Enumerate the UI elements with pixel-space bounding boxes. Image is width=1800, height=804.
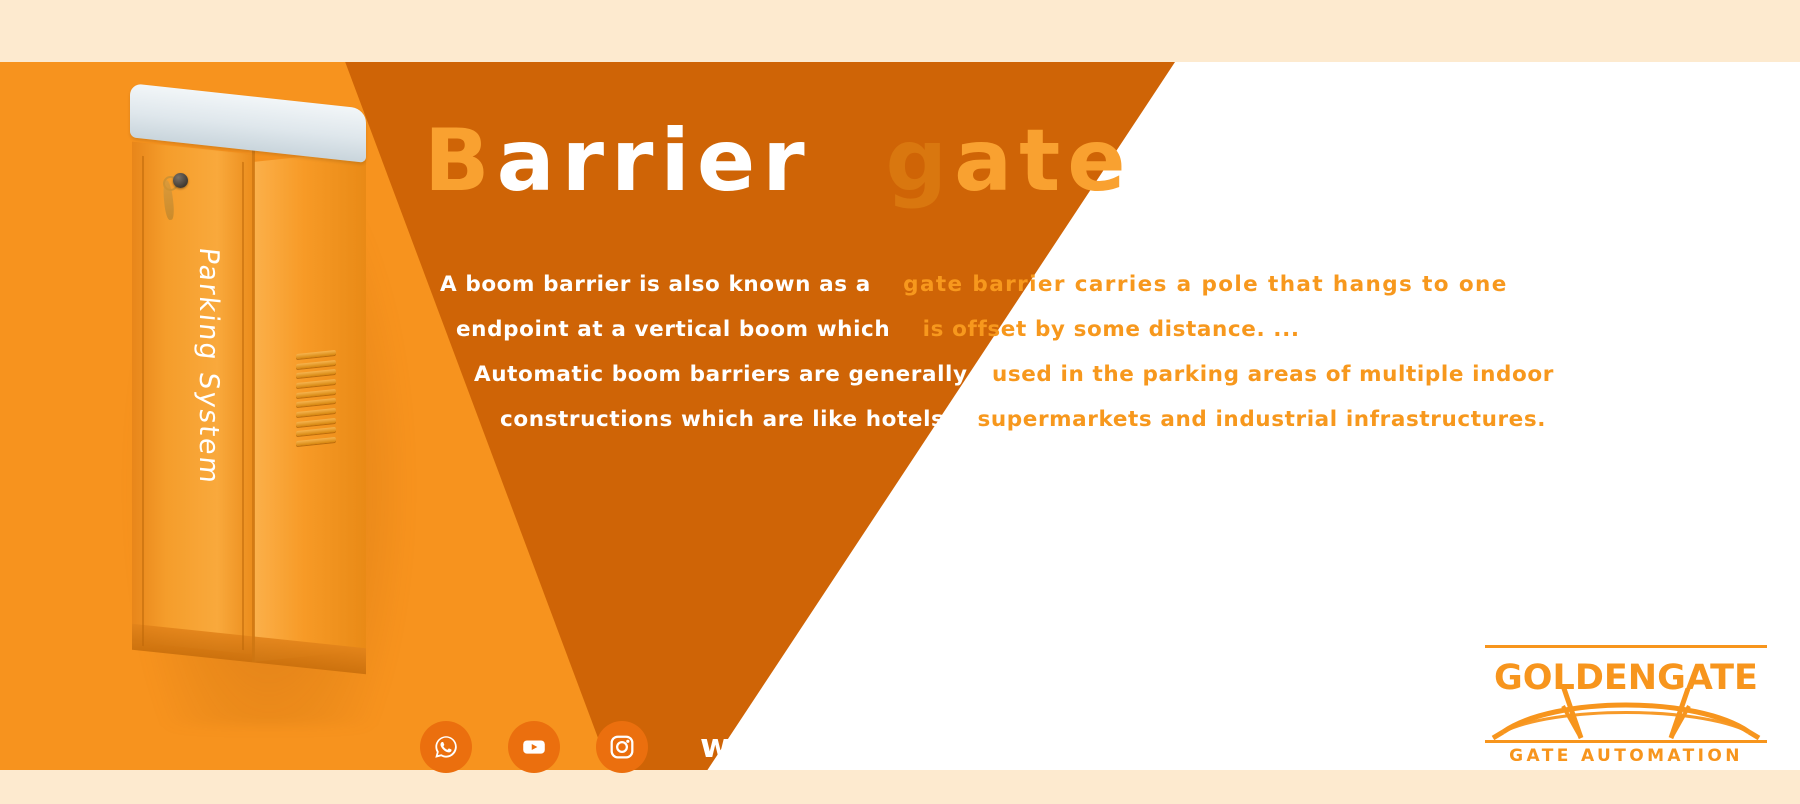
whatsapp-button[interactable] [420,721,472,773]
cabinet-seam-left [142,156,144,646]
background-cream-top-band [0,0,1800,62]
description-line-3: Automatic boom barriers are generally us… [440,352,1680,397]
lock-icon [173,173,188,188]
instagram-icon [607,732,637,762]
logo-tagline: GATE AUTOMATION [1485,746,1767,766]
headline-part-3: g [886,111,955,211]
description-block: A boom barrier is also known as a gate b… [440,262,1680,442]
description-line-1: A boom barrier is also known as a gate b… [440,262,1680,307]
logo-rule-top [1485,645,1767,648]
headline-part-2: arrier [497,111,812,211]
description-line-3-white: Automatic boom barriers are generally [474,362,968,387]
description-line-1-orange: gate barrier carries a pole that hangs t… [903,272,1508,297]
cabinet-corner-edge [252,150,255,662]
description-line-4-white: constructions which are like hotels, [500,407,953,432]
cabinet-seam-right [242,162,244,650]
logo-rule-bottom [1485,740,1767,743]
headline-part-4: ate [954,111,1132,211]
description-line-2-white: endpoint at a vertical boom which [456,317,890,342]
description-line-4: constructions which are like hotels, sup… [440,397,1680,442]
youtube-button[interactable] [508,721,560,773]
social-links [420,721,648,773]
cabinet-label: Parking System [164,243,224,487]
website-url[interactable]: www.mrsmartco.com [700,726,1153,765]
youtube-icon [519,732,549,762]
whatsapp-icon [431,732,461,762]
headline-part-1: B [424,111,497,211]
description-line-2-orange: is offset by some distance. ... [923,317,1300,342]
background-cream-bottom-band [0,770,1800,804]
description-line-2: endpoint at a vertical boom which is off… [440,307,1680,352]
description-line-1-white: A boom barrier is also known as a [440,272,871,297]
product-image-parking-system-cabinet: Parking System [118,96,418,716]
description-line-4-orange: supermarkets and industrial infrastructu… [978,407,1547,432]
description-line-3-orange: used in the parking areas of multiple in… [992,362,1554,387]
page-title: Barrier gate [424,118,1133,204]
instagram-button[interactable] [596,721,648,773]
company-logo: GOLDENGATE GATE AUTOMATION [1485,636,1767,768]
barrier-gate-banner: Parking System Barrier gate A boom barri… [0,0,1800,804]
cabinet-vent-grille [296,350,336,446]
bridge-icon [1485,688,1767,740]
